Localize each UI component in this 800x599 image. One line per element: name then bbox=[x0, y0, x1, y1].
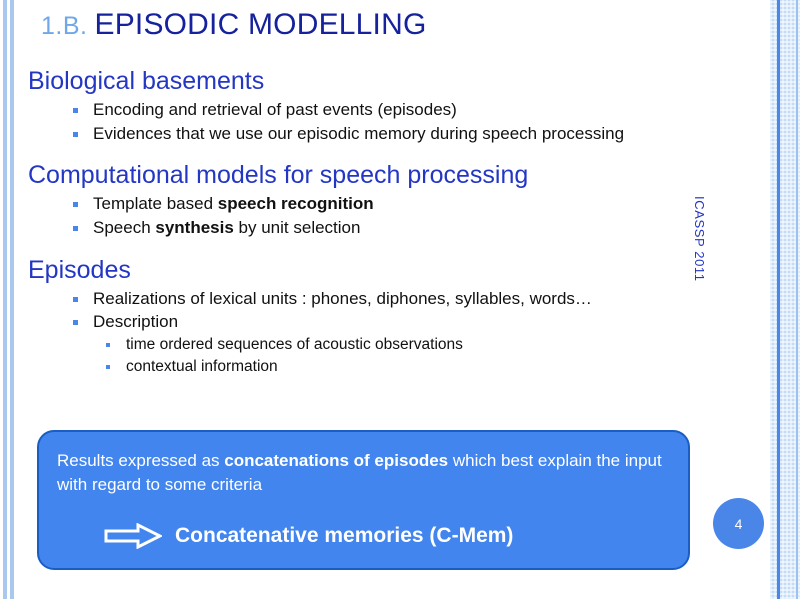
emphasis-text: speech recognition bbox=[218, 194, 374, 213]
content-section: Biological basementsEncoding and retriev… bbox=[28, 68, 688, 145]
left-decorative-stripe-outer bbox=[3, 0, 7, 599]
callout-statement: Results expressed as concatenations of e… bbox=[57, 449, 674, 498]
plain-text: Speech bbox=[93, 218, 155, 237]
slide-body: Biological basementsEncoding and retriev… bbox=[28, 68, 688, 395]
plain-text: Template based bbox=[93, 194, 218, 213]
plain-text: Encoding and retrieval of past events (e… bbox=[93, 100, 457, 119]
section-heading: Episodes bbox=[28, 257, 688, 284]
plain-text: time ordered sequences of acoustic obser… bbox=[126, 336, 463, 353]
section-heading: Biological basements bbox=[28, 68, 688, 95]
bullet-item: Evidences that we use our episodic memor… bbox=[70, 122, 688, 146]
slide-title-number: 1.B. bbox=[41, 12, 87, 40]
bullet-list: Encoding and retrieval of past events (e… bbox=[28, 98, 688, 145]
sub-bullet-list: time ordered sequences of acoustic obser… bbox=[70, 334, 688, 378]
callout-conclusion-row: Concatenative memories (C-Mem) bbox=[104, 523, 513, 549]
plain-text: Results expressed as bbox=[57, 451, 224, 470]
bullet-item: Encoding and retrieval of past events (e… bbox=[70, 98, 688, 122]
callout-box: Results expressed as concatenations of e… bbox=[37, 430, 690, 570]
sub-bullet-item: time ordered sequences of acoustic obser… bbox=[103, 334, 688, 356]
plain-text: Evidences that we use our episodic memor… bbox=[93, 124, 624, 143]
plain-text: Realizations of lexical units : phones, … bbox=[93, 289, 592, 308]
bullet-item: Speech synthesis by unit selection bbox=[70, 216, 688, 240]
bullet-item: Template based speech recognition bbox=[70, 192, 688, 216]
right-block-arrow-icon bbox=[104, 523, 162, 549]
left-decorative-stripe-inner bbox=[10, 0, 14, 599]
emphasis-text: synthesis bbox=[155, 218, 233, 237]
presentation-slide: 1.B.EPISODIC MODELLING Biological baseme… bbox=[0, 0, 800, 599]
page-number-badge: 4 bbox=[713, 498, 764, 549]
section-heading: Computational models for speech processi… bbox=[28, 162, 688, 189]
bullet-list: Template based speech recognitionSpeech … bbox=[28, 192, 688, 239]
content-section: EpisodesRealizations of lexical units : … bbox=[28, 257, 688, 379]
callout-conclusion-text: Concatenative memories (C-Mem) bbox=[175, 524, 513, 548]
slide-title-heading: EPISODIC MODELLING bbox=[94, 8, 426, 41]
right-band-accent-line bbox=[777, 0, 780, 599]
right-band-edge-line bbox=[796, 0, 798, 599]
sub-bullet-item: contextual information bbox=[103, 356, 688, 378]
bullet-list: Realizations of lexical units : phones, … bbox=[28, 287, 688, 379]
plain-text: Description bbox=[93, 312, 178, 331]
bullet-item: Description bbox=[70, 310, 688, 334]
conference-label: ICASSP 2011 bbox=[692, 196, 707, 282]
content-section: Computational models for speech processi… bbox=[28, 162, 688, 239]
plain-text: contextual information bbox=[126, 358, 278, 375]
plain-text: by unit selection bbox=[234, 218, 361, 237]
emphasis-text: concatenations of episodes bbox=[224, 451, 448, 470]
bullet-item: Realizations of lexical units : phones, … bbox=[70, 287, 688, 311]
slide-title: 1.B.EPISODIC MODELLING bbox=[41, 8, 427, 42]
